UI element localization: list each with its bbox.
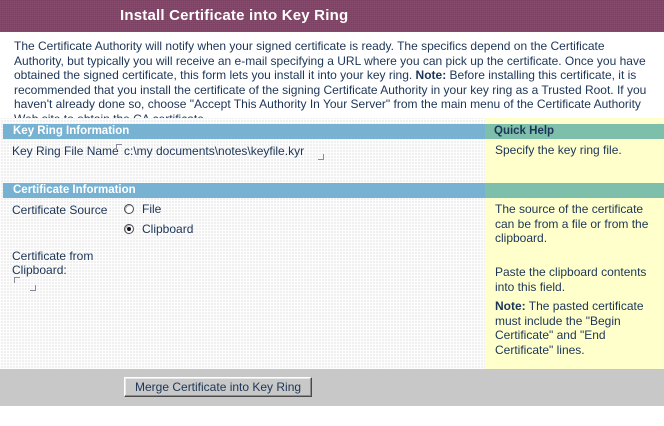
- page-title-banner: Install Certificate into Key Ring: [0, 0, 664, 32]
- bottom-toolbar: Merge Certificate into Key Ring: [0, 369, 664, 406]
- page-title: Install Certificate into Key Ring: [120, 7, 348, 24]
- quick-help-note: Note: The pasted certificate must includ…: [495, 299, 655, 357]
- field-corner-top-left: [116, 144, 122, 150]
- section-header-certificate-label: Certificate Information: [13, 184, 136, 196]
- form-left-column: Key Ring Information Key Ring File Name …: [0, 118, 485, 369]
- quick-help-header-label: Quick Help: [494, 125, 554, 137]
- certificate-from-clipboard-label: Certificate from Clipboard:: [12, 249, 122, 277]
- radio-file-indicator[interactable]: [124, 204, 134, 214]
- quick-help-text-source: The source of the certificate can be fro…: [495, 202, 655, 246]
- certificate-clipboard-textarea[interactable]: [14, 277, 36, 291]
- section-header-key-ring-label: Key Ring Information: [13, 125, 129, 137]
- merge-certificate-button[interactable]: Merge Certificate into Key Ring: [124, 377, 312, 397]
- intro-note-label: Note:: [416, 68, 447, 82]
- key-ring-file-name-input[interactable]: c:\my documents\notes\keyfile.kyr: [116, 144, 324, 160]
- certificate-source-label: Certificate Source: [12, 203, 107, 217]
- radio-clipboard-label: Clipboard: [142, 222, 193, 236]
- section-header-key-ring: Key Ring Information: [3, 124, 485, 139]
- field-corner-bottom-right: [318, 154, 324, 160]
- page-bottom-strip: [0, 406, 664, 426]
- quick-help-note-label: Note:: [495, 299, 526, 313]
- quick-help-divider-bar: [485, 183, 664, 198]
- textarea-corner-bottom-right: [30, 285, 36, 291]
- quick-help-text-key-ring: Specify the key ring file.: [495, 143, 655, 158]
- intro-section: The Certificate Authority will notify wh…: [0, 32, 664, 118]
- intro-paragraph: The Certificate Authority will notify wh…: [0, 32, 664, 127]
- quick-help-header: Quick Help: [485, 124, 664, 139]
- key-ring-file-name-label: Key Ring File Name: [12, 144, 119, 158]
- radio-file-label: File: [142, 202, 161, 216]
- quick-help-panel: Quick Help Specify the key ring file. Th…: [485, 118, 664, 369]
- section-header-certificate: Certificate Information: [3, 183, 485, 198]
- quick-help-text-paste: Paste the clipboard contents into this f…: [495, 265, 655, 294]
- page-root: Install Certificate into Key Ring The Ce…: [0, 0, 664, 426]
- key-ring-file-name-value: c:\my documents\notes\keyfile.kyr: [124, 144, 304, 158]
- form-body: Key Ring Information Key Ring File Name …: [0, 118, 664, 369]
- textarea-corner-top-left: [14, 277, 20, 283]
- radio-clipboard-indicator[interactable]: [124, 224, 134, 234]
